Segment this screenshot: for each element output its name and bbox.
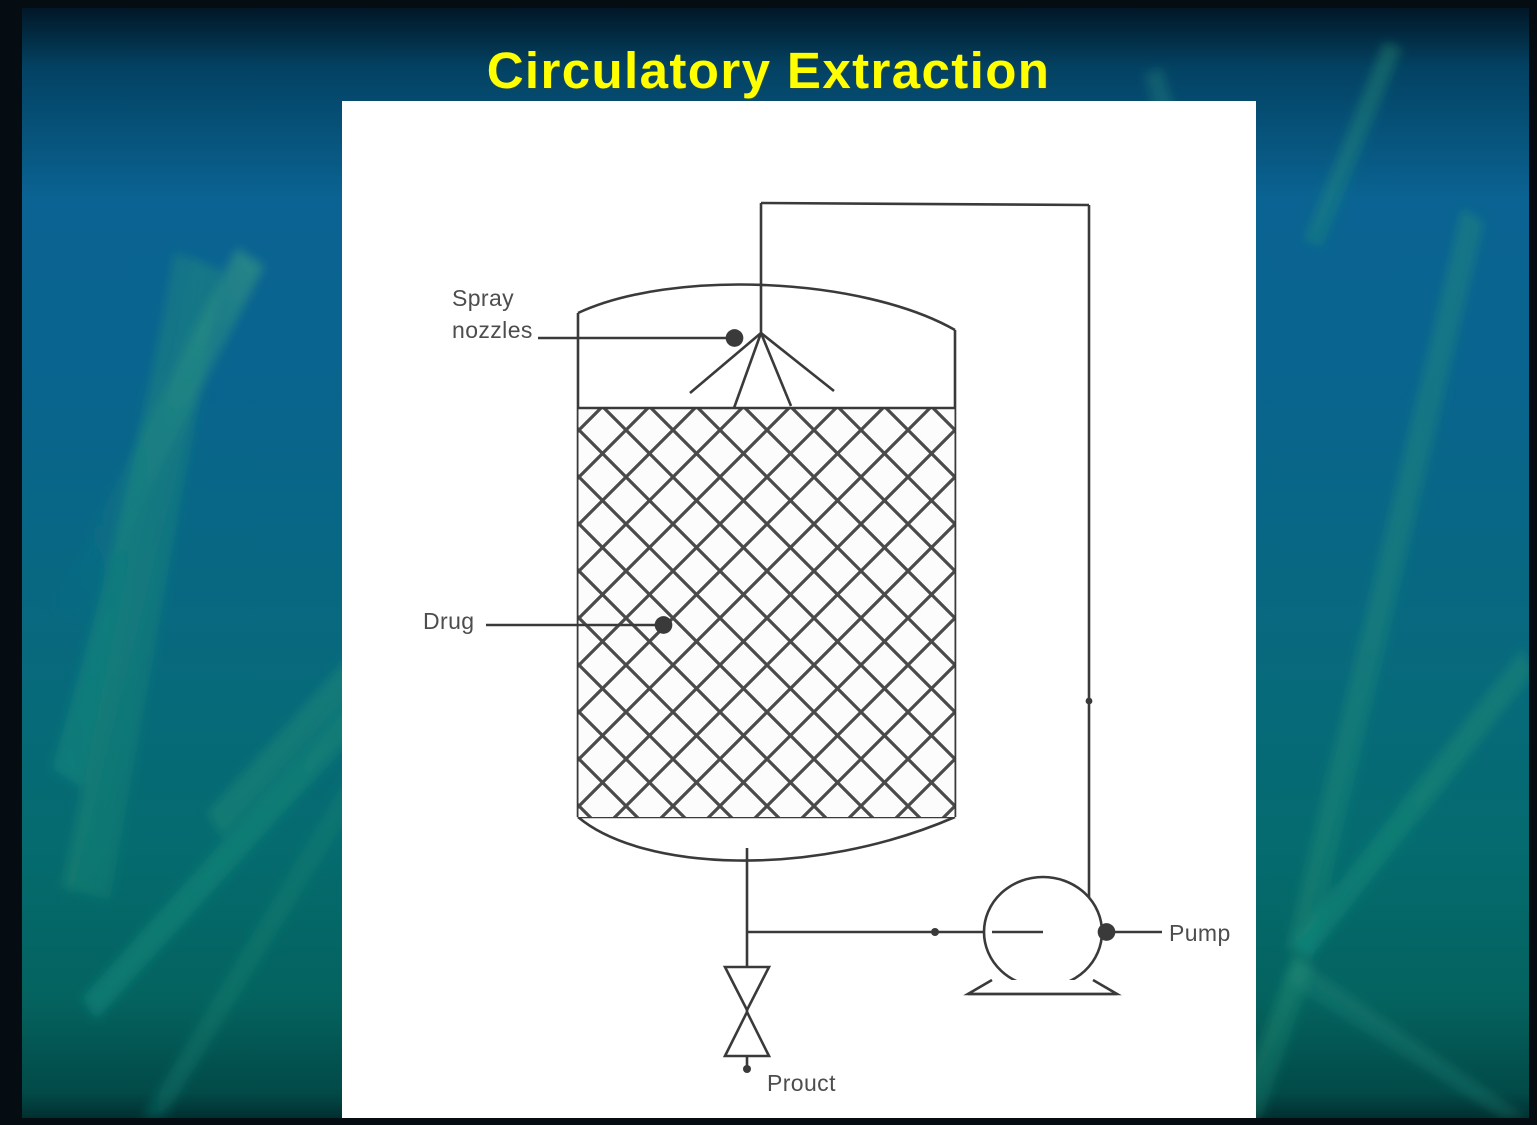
spray-nozzles xyxy=(690,203,834,408)
flow-marker-dot xyxy=(931,928,939,936)
label-pump: Pump xyxy=(1169,920,1231,946)
drug-bed xyxy=(578,408,955,817)
recirc-marker-dot xyxy=(1086,698,1093,705)
recirc-top-run xyxy=(761,203,1089,205)
label-drug: Drug xyxy=(423,608,474,634)
product-end-dot xyxy=(743,1065,751,1073)
label-spray-nozzles-line1: Spray xyxy=(452,285,514,311)
product-outlet-line xyxy=(747,848,992,1069)
circulatory-extraction-diagram: Spray nozzles Drug Pump Prouct xyxy=(342,101,1256,1118)
right-leaf-cluster xyxy=(1232,208,1529,1118)
vessel-dished-bottom xyxy=(578,817,955,861)
label-spray-nozzles-line2: nozzles xyxy=(452,317,533,343)
pump-symbol xyxy=(968,877,1117,994)
vessel-dome-top xyxy=(578,285,955,330)
label-product: Prouct xyxy=(767,1070,836,1096)
diagram-picture-panel: Spray nozzles Drug Pump Prouct xyxy=(342,101,1256,1118)
pump-base xyxy=(968,980,1117,994)
presentation-slide: Circulatory Extraction xyxy=(0,0,1537,1125)
slide-title: Circulatory Extraction xyxy=(0,44,1537,98)
valve-symbol xyxy=(725,967,769,1056)
